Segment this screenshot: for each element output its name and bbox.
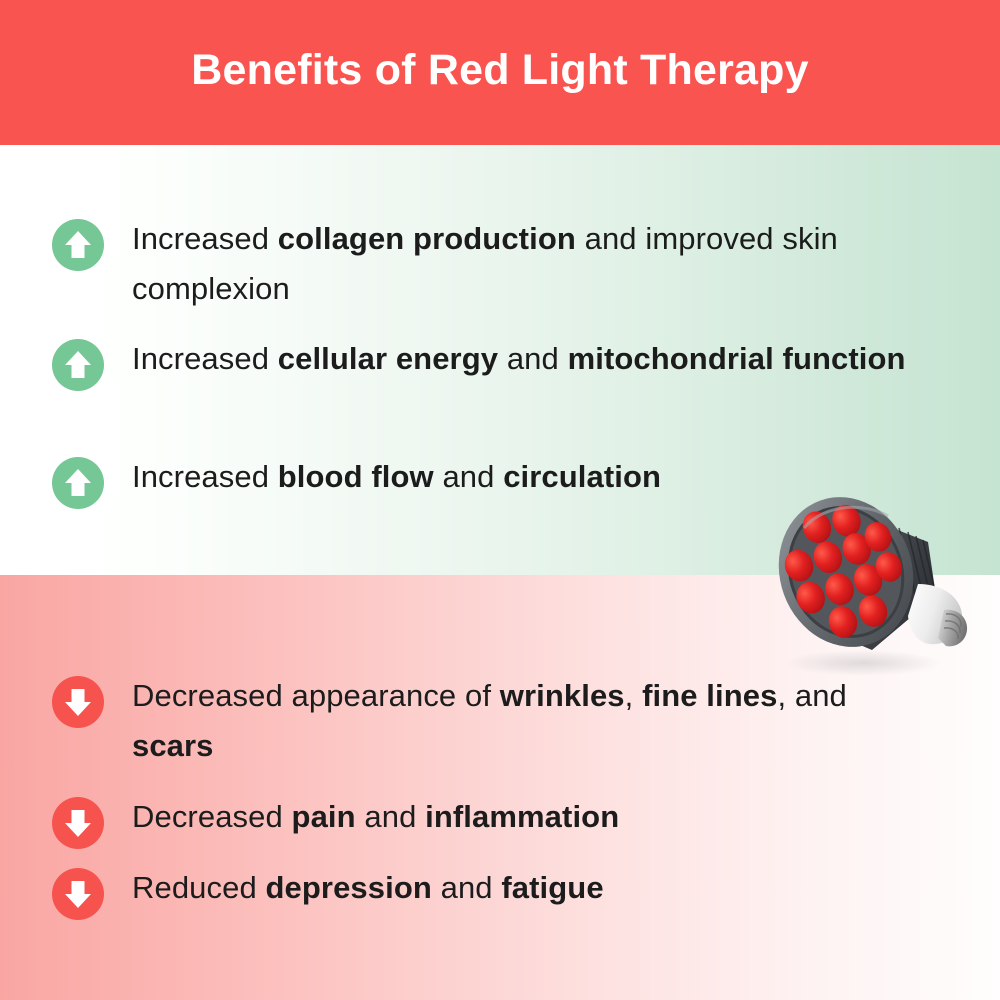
arrow-up-icon bbox=[52, 219, 104, 271]
arrow-down-icon bbox=[52, 797, 104, 849]
header-banner: Benefits of Red Light Therapy bbox=[0, 0, 1000, 145]
page-title: Benefits of Red Light Therapy bbox=[191, 49, 808, 96]
list-item-text: Decreased appearance of wrinkles, fine l… bbox=[132, 671, 892, 771]
list-item-text: Reduced depression and fatigue bbox=[132, 863, 604, 913]
list-item: Increased blood flow and circulation bbox=[52, 452, 661, 509]
list-item-text: Increased cellular energy and mitochondr… bbox=[132, 334, 906, 384]
list-item-text: Decreased pain and inflammation bbox=[132, 792, 619, 842]
list-item: Decreased pain and inflammation bbox=[52, 792, 619, 849]
arrow-down-icon bbox=[52, 868, 104, 920]
list-item-text: Increased blood flow and circulation bbox=[132, 452, 661, 502]
red-light-bulb-image bbox=[768, 488, 973, 678]
arrow-up-icon bbox=[52, 457, 104, 509]
list-item: Increased cellular energy and mitochondr… bbox=[52, 334, 906, 391]
arrow-down-icon bbox=[52, 676, 104, 728]
list-item: Reduced depression and fatigue bbox=[52, 863, 604, 920]
list-item-text: Increased collagen production and improv… bbox=[132, 214, 962, 314]
list-item: Increased collagen production and improv… bbox=[52, 214, 962, 314]
arrow-up-icon bbox=[52, 339, 104, 391]
infographic-root: Benefits of Red Light Therapy Increased … bbox=[0, 0, 1000, 1000]
list-item: Decreased appearance of wrinkles, fine l… bbox=[52, 671, 892, 771]
